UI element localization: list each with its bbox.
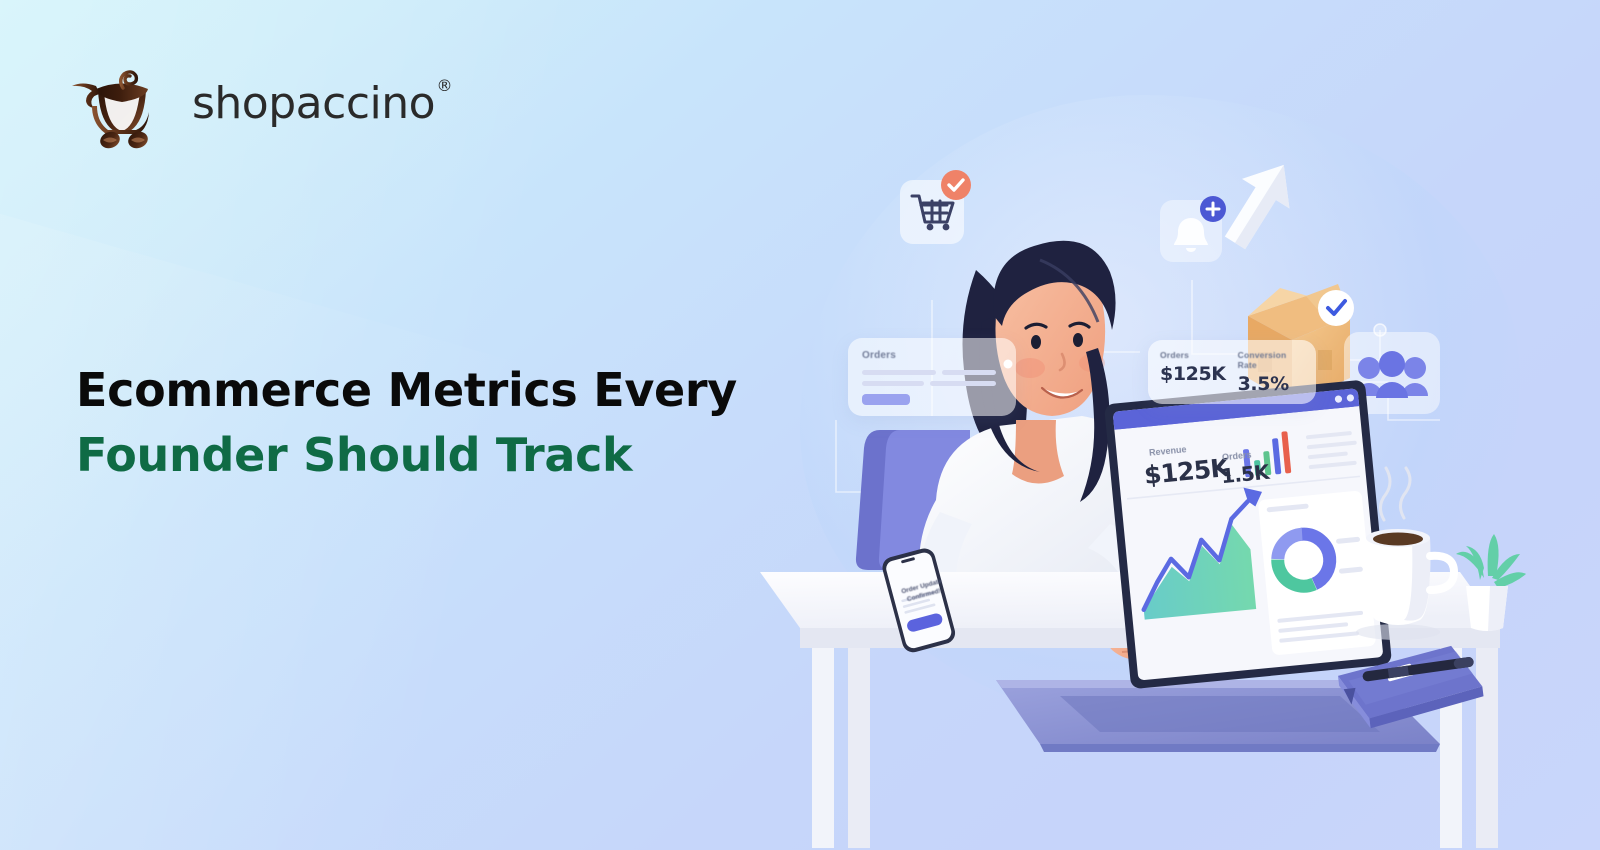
dashboard-orders-value: 1.5K: [1220, 460, 1270, 488]
headline-line-1: Ecommerce Metrics Every: [76, 358, 776, 423]
kpi-metric-conversion: Conversion Rate 3.5%: [1238, 350, 1304, 394]
orders-card-button[interactable]: [862, 394, 910, 405]
orders-card-placeholder-rows: [862, 370, 1002, 386]
kpi-conversion-label: Conversion Rate: [1238, 350, 1304, 370]
coffee-cup-cart-logo-icon: [66, 58, 178, 150]
hero-illustration: Orders Orders $125K Conversion Rate 3.5%…: [740, 120, 1580, 850]
banner-root: shopaccino® Ecommerce Metrics Every Foun…: [0, 0, 1600, 850]
brand-logo[interactable]: shopaccino®: [66, 58, 435, 150]
orders-card: Orders: [848, 338, 1016, 416]
brand-wordmark: shopaccino®: [192, 82, 435, 126]
headline-line-2: Founder Should Track: [76, 423, 776, 488]
page-title: Ecommerce Metrics Every Founder Should T…: [76, 358, 776, 489]
check-badge: [941, 170, 971, 200]
kpi-orders-label: Orders: [1160, 350, 1226, 360]
registered-mark: ®: [437, 78, 453, 94]
kpi-card: Orders $125K Conversion Rate 3.5%: [1148, 340, 1316, 404]
steam: [1380, 468, 1410, 520]
bell-icon: [1160, 196, 1226, 262]
brand-name: shopaccino: [192, 78, 435, 129]
arrow-up-icon: [1211, 150, 1307, 258]
kpi-conversion-value: 3.5%: [1238, 373, 1304, 395]
shopping-cart-icon: [900, 170, 971, 244]
check-badge: [1318, 290, 1354, 326]
orders-card-label: Orders: [862, 350, 1002, 361]
kpi-metric-orders: Orders $125K: [1160, 350, 1226, 394]
kpi-orders-value: $125K: [1160, 363, 1226, 385]
